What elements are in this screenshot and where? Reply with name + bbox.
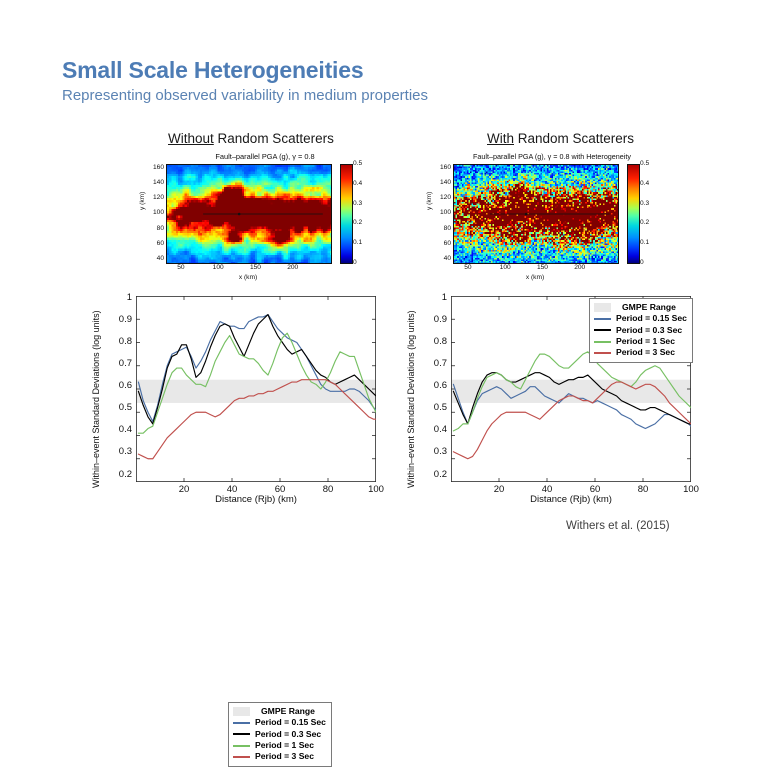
legend-swatch-line — [233, 756, 250, 758]
heatmap-xtick: 100 — [500, 264, 511, 271]
legend-entry-gmpe-range: GMPE Range — [594, 302, 687, 313]
colorbar-tick: 0.2 — [353, 219, 375, 226]
legend-swatch-band — [233, 707, 250, 716]
colorbar-tick: 0.3 — [640, 200, 662, 207]
legend-swatch-band — [594, 303, 611, 312]
colorbar-tick: 0.5 — [640, 160, 662, 167]
page-subtitle: Representing observed variability in med… — [62, 88, 428, 105]
chart-ytick: 0.3 — [434, 447, 447, 457]
chart-ytick: 0.8 — [119, 337, 132, 347]
colorbar-tick: 0.2 — [640, 219, 662, 226]
chart-ytick: 0.5 — [119, 403, 132, 413]
chart-without-scatterers: Within–event Standard Deviations (log un… — [88, 296, 388, 511]
heatmap-ytick: 100 — [153, 209, 164, 216]
heatmap-without-scatterers: Fault–parallel PGA (g), γ = 0.8 y (km) 1… — [140, 152, 390, 292]
legend-swatch-line — [594, 318, 611, 320]
heatmap-ytick: 80 — [157, 225, 164, 232]
chart-ytick: 0.6 — [119, 381, 132, 391]
heatmap-ytick: 100 — [440, 209, 451, 216]
colorbar-tick: 0.4 — [353, 180, 375, 187]
chart-ytick: 0.9 — [434, 315, 447, 325]
legend-entry-gmpe-range: GMPE Range — [233, 706, 326, 717]
panel-header-without-rest: Random Scatterers — [214, 131, 334, 146]
chart-right-xlabel: Distance (Rjb) (km) — [451, 494, 691, 505]
chart-left-ylabel: Within–event Standard Deviations (log un… — [91, 310, 101, 488]
heatmap-ytick: 160 — [153, 164, 164, 171]
heatmap-left-colorbar — [340, 164, 353, 264]
legend-label: Period = 0.15 Sec — [255, 717, 326, 728]
heatmap-xtick: 50 — [177, 264, 184, 271]
legend-entry: Period = 3 Sec — [594, 347, 687, 358]
legend-swatch-line — [233, 722, 250, 724]
chart-right-yticks: 10.90.80.70.60.50.40.30.2 — [417, 296, 447, 482]
legend-label: Period = 0.3 Sec — [255, 729, 321, 740]
chart-ytick: 0.6 — [434, 381, 447, 391]
panel-header-without-emphasis: Without — [168, 131, 214, 146]
panel-header-with-emphasis: With — [487, 131, 514, 146]
heatmap-right-colorbar — [627, 164, 640, 264]
heatmap-with-scatterers: Fault–parallel PGA (g), γ = 0.8 with Het… — [427, 152, 677, 292]
colorbar-tick: 0 — [640, 259, 662, 266]
page-title: Small Scale Heterogeneities — [62, 58, 428, 82]
legend-label: Period = 3 Sec — [255, 751, 314, 762]
heatmap-left-yticks: 160140120100806040 — [144, 164, 164, 262]
chart-ytick: 0.7 — [119, 359, 132, 369]
heatmap-ytick: 140 — [153, 179, 164, 186]
chart-ytick: 0.3 — [119, 447, 132, 457]
citation: Withers et al. (2015) — [566, 520, 670, 532]
heatmap-xtick: 150 — [250, 264, 261, 271]
chart-ytick: 1 — [442, 293, 447, 303]
colorbar-tick: 0.1 — [640, 239, 662, 246]
chart-ytick: 0.7 — [434, 359, 447, 369]
legend-label: Period = 0.3 Sec — [616, 325, 682, 336]
chart-ytick: 0.8 — [434, 337, 447, 347]
panel-header-without: Without Random Scatterers — [168, 131, 334, 146]
heatmap-left-canvas — [166, 164, 332, 264]
heatmap-right-colorbar-ticks: 0.50.40.30.20.10 — [640, 160, 662, 266]
heatmap-right-image — [454, 165, 618, 263]
heatmap-xtick: 200 — [574, 264, 585, 271]
chart-right-ylabel: Within–event Standard Deviations (log un… — [406, 310, 416, 488]
legend-swatch-line — [233, 733, 250, 735]
heatmap-ytick: 40 — [157, 255, 164, 262]
chart-with-scatterers: Within–event Standard Deviations (log un… — [403, 296, 703, 511]
chart-left-plot — [136, 296, 376, 482]
heatmap-ytick: 80 — [444, 225, 451, 232]
legend-entry: Period = 0.15 Sec — [233, 717, 326, 728]
chart-ytick: 0.2 — [119, 470, 132, 480]
heatmap-xtick: 100 — [213, 264, 224, 271]
chart-ytick: 0.4 — [119, 425, 132, 435]
chart-left-yticks: 10.90.80.70.60.50.40.30.2 — [102, 296, 132, 482]
legend-swatch-line — [594, 341, 611, 343]
title-block: Small Scale Heterogeneities Representing… — [62, 58, 428, 105]
heatmap-xtick: 50 — [464, 264, 471, 271]
legend-label: GMPE Range — [622, 302, 676, 313]
heatmap-ytick: 40 — [444, 255, 451, 262]
legend-entry: Period = 1 Sec — [594, 336, 687, 347]
heatmap-ytick: 120 — [153, 194, 164, 201]
chart-left-xlabel: Distance (Rjb) (km) — [136, 494, 376, 505]
legend-entry: Period = 1 Sec — [233, 740, 326, 751]
legend-swatch-line — [233, 745, 250, 747]
heatmap-left-xlabel: x (km) — [168, 274, 328, 281]
legend-swatch-line — [594, 329, 611, 331]
colorbar-tick: 0.3 — [353, 200, 375, 207]
chart-ytick: 0.4 — [434, 425, 447, 435]
legend-label: GMPE Range — [261, 706, 315, 717]
heatmap-right-canvas — [453, 164, 619, 264]
heatmap-left-xticks: 50100150200 — [166, 264, 330, 274]
legend-label: Period = 1 Sec — [255, 740, 314, 751]
legend-entry: Period = 0.3 Sec — [594, 325, 687, 336]
colorbar-tick: 0.4 — [640, 180, 662, 187]
heatmap-right-xlabel: x (km) — [455, 274, 615, 281]
chart-ytick: 0.9 — [119, 315, 132, 325]
heatmap-ytick: 140 — [440, 179, 451, 186]
legend-swatch-line — [594, 352, 611, 354]
colorbar-tick: 0.1 — [353, 239, 375, 246]
legend-label: Period = 1 Sec — [616, 336, 675, 347]
chart-left-legend: GMPE RangePeriod = 0.15 SecPeriod = 0.3 … — [228, 702, 332, 767]
legend-label: Period = 3 Sec — [616, 347, 675, 358]
chart-ytick: 1 — [127, 293, 132, 303]
chart-ytick: 0.2 — [434, 470, 447, 480]
chart-right-legend: GMPE RangePeriod = 0.15 SecPeriod = 0.3 … — [589, 298, 693, 363]
colorbar-tick: 0 — [353, 259, 375, 266]
heatmap-right-yticks: 160140120100806040 — [431, 164, 451, 262]
legend-entry: Period = 3 Sec — [233, 751, 326, 762]
legend-entry: Period = 0.15 Sec — [594, 313, 687, 324]
colorbar-tick: 0.5 — [353, 160, 375, 167]
panel-header-with: With Random Scatterers — [487, 131, 634, 146]
heatmap-ytick: 120 — [440, 194, 451, 201]
panel-header-with-rest: Random Scatterers — [514, 131, 634, 146]
heatmap-left-colorbar-ticks: 0.50.40.30.20.10 — [353, 160, 375, 266]
heatmap-xtick: 200 — [287, 264, 298, 271]
heatmap-left-image — [167, 165, 331, 263]
heatmap-ytick: 160 — [440, 164, 451, 171]
legend-entry: Period = 0.3 Sec — [233, 729, 326, 740]
heatmap-ytick: 60 — [157, 240, 164, 247]
heatmap-ytick: 60 — [444, 240, 451, 247]
heatmap-xtick: 150 — [537, 264, 548, 271]
legend-label: Period = 0.15 Sec — [616, 313, 687, 324]
heatmap-right-xticks: 50100150200 — [453, 264, 617, 274]
chart-left-svg — [136, 296, 376, 482]
chart-ytick: 0.5 — [434, 403, 447, 413]
